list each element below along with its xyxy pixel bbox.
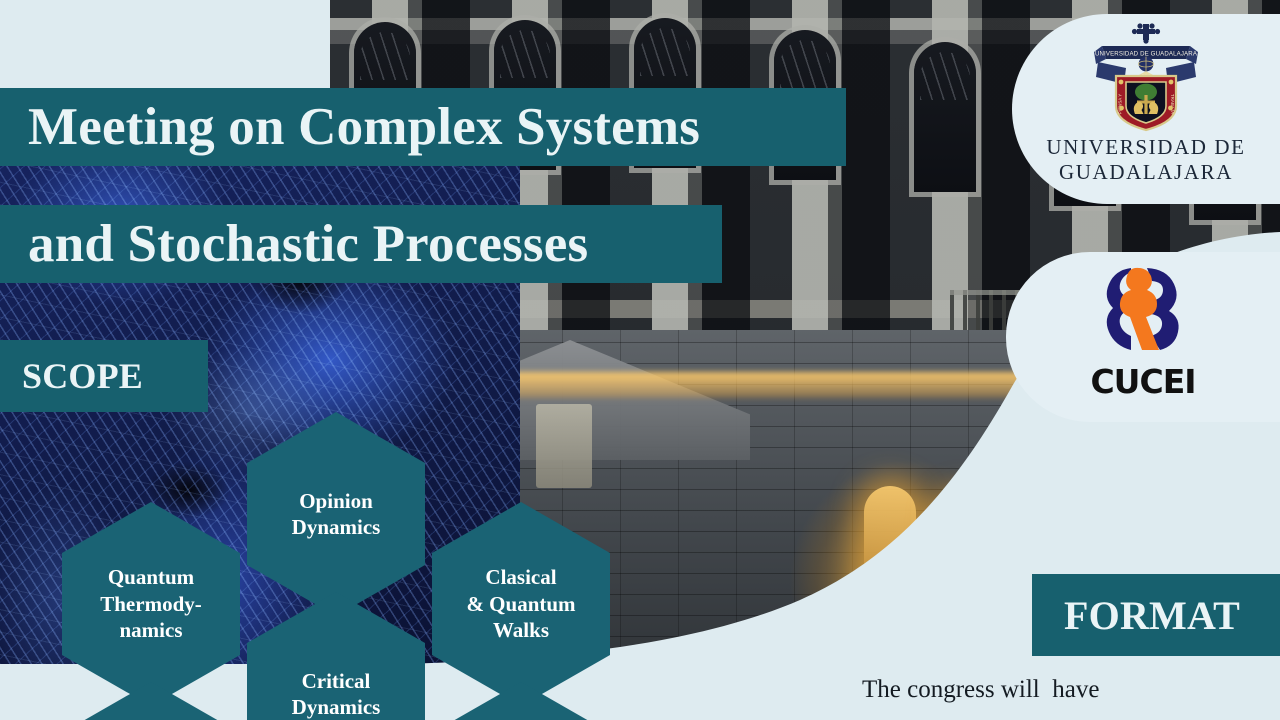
cucei-monogram-icon (1091, 262, 1195, 366)
scope-label-text: SCOPE (22, 355, 143, 397)
svg-text:PIENSA Y: PIENSA Y (1117, 94, 1122, 114)
scope-hexagon-critical-dynamics: CriticalDynamics (247, 592, 425, 720)
scope-hexagon-label-line: namics (100, 617, 202, 643)
scope-hexagon-hex-partial-left: Searching for (62, 682, 240, 720)
format-section-label: FORMAT (1032, 574, 1280, 656)
cucei-logo-panel: CUCEI (1006, 252, 1280, 422)
scope-hexagon-label: QuantumThermody-namics (100, 564, 202, 643)
svg-text:UNIVERSIDAD DE GUADALAJARA: UNIVERSIDAD DE GUADALAJARA (1095, 50, 1198, 57)
scope-hexagon-label-line: Critical (292, 668, 381, 694)
scope-hexagon-opinion-dynamics: OpinionDynamics (247, 412, 425, 616)
scope-hexagon-label: CriticalDynamics (292, 668, 381, 720)
scope-hexagon-clasical-quantum-walks: Clasical& QuantumWalks (432, 502, 610, 706)
scope-hexagon-label: Clasical& QuantumWalks (466, 564, 575, 643)
university-crest-icon: UNIVERSIDAD DE GUADALAJARA (1086, 22, 1206, 134)
scope-hexagon-label-line: Clasical (466, 564, 575, 590)
poster-canvas: OpinionDynamicsQuantumThermody-namicsCla… (0, 0, 1280, 720)
poster-title-line-1-text: Meeting on Complex Systems (28, 97, 700, 157)
format-label-text: FORMAT (1064, 592, 1240, 639)
scope-hexagon-label-line: Walks (466, 617, 575, 643)
poster-title-line-2-text: and Stochastic Processes (28, 214, 588, 274)
scope-hexagon-label-line: Quantum (100, 564, 202, 590)
universidad-de-guadalajara-logo-panel: UNIVERSIDAD DE GUADALAJARA (1012, 14, 1280, 204)
udg-name-line-2: GUADALAJARA (1059, 162, 1233, 184)
poster-title-line-2: and Stochastic Processes (0, 205, 722, 283)
svg-text:TRABAJA: TRABAJA (1170, 94, 1175, 114)
scope-hexagon-label-line: Dynamics (292, 514, 381, 540)
scope-hexagon-label-line: & Quantum (466, 591, 575, 617)
udg-name-line-1: UNIVERSIDAD DE (1046, 137, 1245, 159)
format-body-text: The congress will have (862, 676, 1099, 704)
scope-hexagon-label-line: Dynamics (292, 694, 381, 720)
cucei-wordmark: CUCEI (1090, 362, 1195, 401)
poster-title-line-1: Meeting on Complex Systems (0, 88, 846, 166)
scope-hexagon-label-line: Opinion (292, 488, 381, 514)
scope-section-label: SCOPE (0, 340, 208, 412)
scope-hexagon-hex-partial-right (432, 682, 610, 720)
scope-hexagon-label: OpinionDynamics (292, 488, 381, 541)
scope-hexagon-quantum-thermodynamics: QuantumThermody-namics (62, 502, 240, 706)
scope-hexagon-label-line: Thermody- (100, 591, 202, 617)
